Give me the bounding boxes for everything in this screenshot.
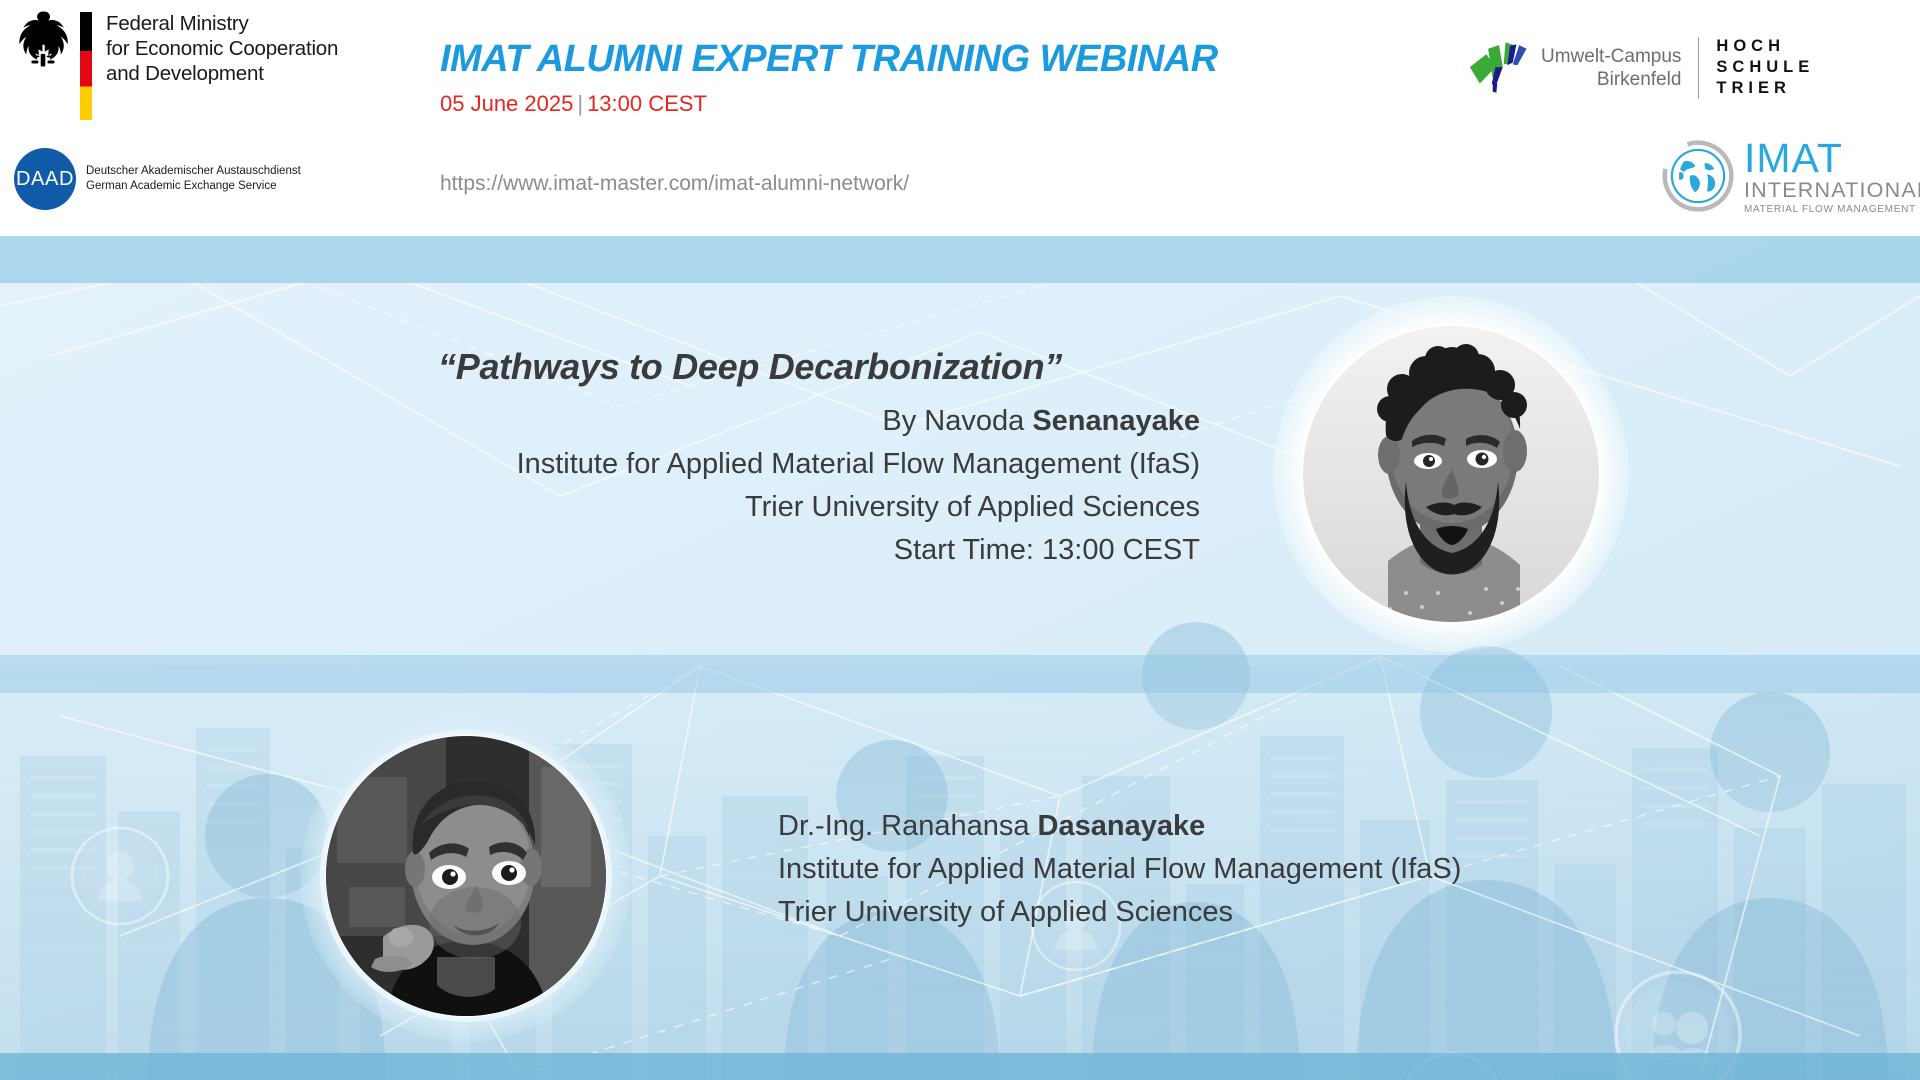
- hs-line-3: TRIER: [1716, 79, 1791, 97]
- uc-line-2: Birkenfeld: [1541, 68, 1681, 91]
- band-middle: [0, 655, 1920, 693]
- federal-ministry-logo: Federal Ministry for Economic Cooperatio…: [14, 8, 338, 120]
- ministry-line-1: Federal Ministry: [106, 11, 338, 36]
- webinar-url-link[interactable]: https://www.imat-master.com/imat-alumni-…: [440, 172, 909, 196]
- german-flag-bar-icon: [80, 12, 92, 120]
- talk-title: “Pathways to Deep Decarbonization”: [300, 346, 1200, 388]
- talk-speaker-name: By Navoda Senanayake: [300, 400, 1200, 443]
- secondary-speaker-name: Dr.-Ing. Ranahansa Dasanayake: [778, 805, 1461, 848]
- secondary-speaker-university: Trier University of Applied Sciences: [778, 891, 1461, 934]
- event-datetime: 05 June 2025|13:00 CEST: [440, 91, 1218, 117]
- daad-name: Deutscher Akademischer Austauschdienst G…: [86, 164, 301, 195]
- webinar-poster: Federal Ministry for Economic Cooperatio…: [0, 0, 1920, 1080]
- speaker-lastname: Senanayake: [1032, 405, 1200, 437]
- ministry-line-3: and Development: [106, 61, 338, 86]
- ministry-line-2: for Economic Cooperation: [106, 36, 338, 61]
- talk-info-block: “Pathways to Deep Decarbonization” By Na…: [300, 346, 1200, 572]
- secondary-speaker-prefix: Dr.-Ing. Ranahansa: [778, 810, 1038, 842]
- umwelt-campus-name: Umwelt-Campus Birkenfeld: [1541, 45, 1681, 91]
- imat-subtitle-mfm: MATERIAL FLOW MANAGEMENT: [1744, 205, 1920, 215]
- event-date: 05 June 2025: [440, 91, 573, 116]
- daad-line-de: Deutscher Akademischer Austauschdienst: [86, 164, 301, 180]
- talk-institute: Institute for Applied Material Flow Mana…: [300, 443, 1200, 486]
- secondary-speaker-lastname: Dasanayake: [1038, 810, 1206, 842]
- german-eagle-icon: [14, 8, 72, 70]
- portrait-ranahansa-dasanayake: [297, 707, 635, 1045]
- federal-ministry-name: Federal Ministry for Economic Cooperatio…: [106, 8, 338, 86]
- poster-header: Federal Ministry for Economic Cooperatio…: [0, 0, 1920, 236]
- imat-name: IMAT: [1744, 138, 1920, 179]
- header-title-block: IMAT ALUMNI EXPERT TRAINING WEBINAR 05 J…: [440, 38, 1218, 117]
- talk-university: Trier University of Applied Sciences: [300, 486, 1200, 529]
- page-title: IMAT ALUMNI EXPERT TRAINING WEBINAR: [440, 38, 1218, 81]
- hs-line-2: SCHULE: [1716, 58, 1814, 76]
- daad-logo: DAAD Deutscher Akademischer Austauschdie…: [14, 148, 301, 210]
- daad-line-en: German Academic Exchange Service: [86, 179, 301, 195]
- talk-start-time: Start Time: 13:00 CEST: [300, 529, 1200, 572]
- datetime-separator: |: [573, 91, 587, 116]
- portrait-navoda-senanayake: [1270, 293, 1632, 655]
- logo-divider: [1698, 37, 1699, 99]
- secondary-speaker-block: Dr.-Ing. Ranahansa Dasanayake Institute …: [778, 805, 1461, 934]
- umwelt-campus-leaf-icon: [1468, 39, 1532, 97]
- imat-logo: IMAT INTERNATIONAL MATERIAL FLOW MANAGEM…: [1662, 138, 1920, 215]
- imat-subtitle-international: INTERNATIONAL: [1744, 180, 1920, 202]
- daad-circle-mark: DAAD: [14, 148, 76, 210]
- hochschule-trier-name: HOCH SCHULE TRIER: [1716, 36, 1814, 99]
- hs-line-1: HOCH: [1716, 37, 1785, 55]
- speaker-prefix: By Navoda: [882, 405, 1032, 437]
- imat-globe-icon: [1662, 140, 1734, 212]
- imat-wordmark: IMAT INTERNATIONAL MATERIAL FLOW MANAGEM…: [1744, 138, 1920, 215]
- umwelt-campus-hochschule-trier-logo: Umwelt-Campus Birkenfeld HOCH SCHULE TRI…: [1468, 36, 1814, 99]
- secondary-speaker-institute: Institute for Applied Material Flow Mana…: [778, 848, 1461, 891]
- band-top: [0, 236, 1920, 283]
- event-time: 13:00 CEST: [587, 91, 707, 116]
- uc-line-1: Umwelt-Campus: [1541, 45, 1681, 68]
- band-bottom: [0, 1053, 1920, 1080]
